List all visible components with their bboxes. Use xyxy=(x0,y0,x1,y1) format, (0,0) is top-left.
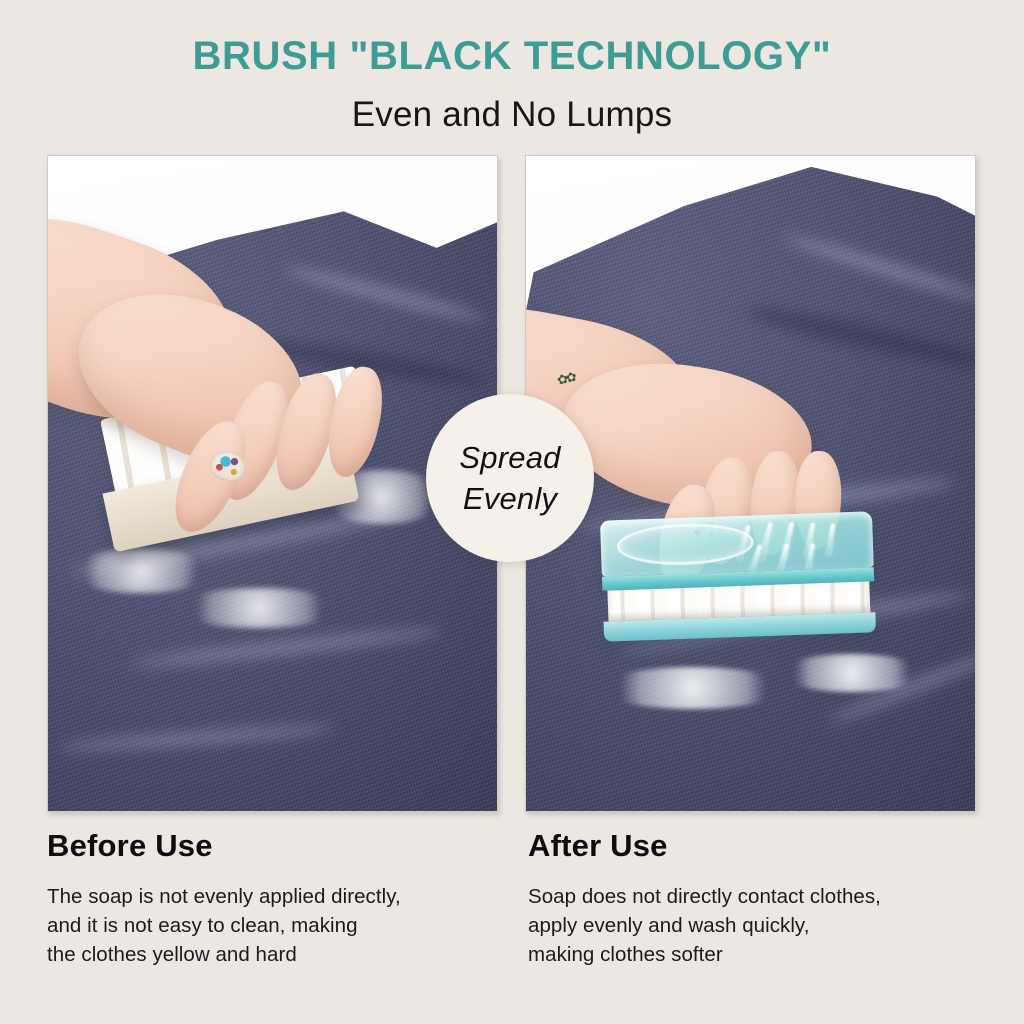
bristle-icon xyxy=(760,522,774,562)
caption-heading: After Use xyxy=(528,828,983,864)
caption-before-use: Before Use The soap is not evenly applie… xyxy=(47,828,502,969)
soap-lather xyxy=(174,588,344,628)
soap-brush-device xyxy=(600,512,876,641)
caption-after-use: After Use Soap does not directly contact… xyxy=(528,828,983,969)
badge-line-1: Spread xyxy=(459,437,560,478)
bristle-icon xyxy=(778,544,789,574)
caption-body: Soap does not directly contact clothes, … xyxy=(528,882,983,969)
device-lid xyxy=(600,512,874,578)
caption-body: The soap is not evenly applied directly,… xyxy=(47,882,502,969)
page-title: BRUSH "BLACK TECHNOLOGY" xyxy=(0,34,1024,79)
bristle-icon xyxy=(738,525,752,561)
spread-evenly-badge: Spread Evenly xyxy=(426,394,594,562)
caption-heading: Before Use xyxy=(47,828,502,864)
badge-line-2: Evenly xyxy=(463,478,557,519)
soap-lather xyxy=(777,654,927,692)
bristle-icon xyxy=(827,524,835,556)
page-subtitle: Even and No Lumps xyxy=(0,95,1024,135)
poster-canvas: BRUSH "BLACK TECHNOLOGY" Even and No Lum… xyxy=(0,0,1024,1024)
soap-lather xyxy=(66,549,216,593)
soap-lather xyxy=(598,667,788,709)
